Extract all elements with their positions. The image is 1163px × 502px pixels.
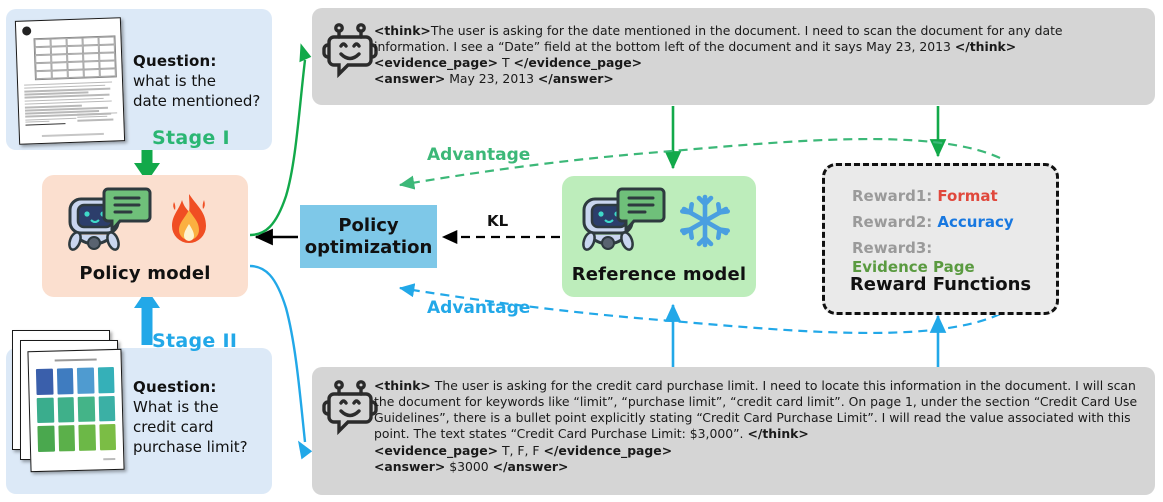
stage2-label: Stage II <box>152 330 237 352</box>
reward-functions-box[interactable]: Reward1: Format Reward2: Accuracy Reward… <box>822 163 1059 315</box>
answer-close-tag: </answer> <box>538 71 614 86</box>
advantage-top-label: Advantage <box>427 145 530 165</box>
reference-model-caption: Reference model <box>562 264 756 285</box>
fire-icon <box>166 190 212 252</box>
stage2-question-text: What is the credit card purchase limit? <box>133 398 273 457</box>
evidence-close-tag: </evidence_page> <box>544 443 673 458</box>
chat-robot-icon <box>324 22 378 78</box>
reward-item-2: Reward2: Accuracy <box>852 212 1014 231</box>
doc-signature-block <box>77 110 117 123</box>
think-close-tag: </think> <box>747 426 808 441</box>
stage2-question-label: Question: <box>133 378 217 396</box>
response-top-bubble: <think>The user is asking for the date m… <box>312 8 1155 105</box>
evidence-open-tag: <evidence_page> <box>374 443 498 458</box>
answer-value: May 23, 2013 <box>445 71 538 86</box>
evidence-value: T <box>498 55 513 70</box>
reward-1-value: Format <box>937 187 997 205</box>
doc-page-number <box>103 458 115 460</box>
reward-1-key: Reward1: <box>852 187 932 205</box>
policy-model-caption: Policy model <box>42 263 248 284</box>
reward-functions-title: Reward Functions <box>825 274 1056 295</box>
policy-model-box[interactable]: Policy model <box>42 175 248 297</box>
reward-item-3: Reward3: Evidence Page <box>852 238 1056 276</box>
answer-value: $3000 <box>445 459 492 474</box>
think-close-tag: </think> <box>955 39 1016 54</box>
reward-2-value: Accuracy <box>937 213 1013 231</box>
response-bottom-bubble: <think> The user is asking for the credi… <box>312 367 1155 495</box>
robot-icon <box>64 185 156 257</box>
chat-robot-icon <box>324 379 378 435</box>
kl-label: KL <box>487 212 508 230</box>
think-open-tag: <think> <box>374 23 431 38</box>
advantage-bottom-label: Advantage <box>427 298 530 318</box>
evidence-value: T, F, F <box>498 443 543 458</box>
doc-title-line <box>55 358 97 361</box>
answer-open-tag: <answer> <box>374 71 445 86</box>
doc-date-field <box>25 118 65 127</box>
stage1-document-thumbnail <box>15 17 125 145</box>
stage1-label: Stage I <box>152 127 230 149</box>
think-open-tag: <think> <box>374 378 431 393</box>
response-top-text: <think>The user is asking for the date m… <box>374 23 1140 88</box>
stage1-question-label: Question: <box>133 52 217 70</box>
answer-close-tag: </answer> <box>493 459 569 474</box>
policy-optimization-box[interactable]: Policy optimization <box>300 205 437 268</box>
robot-icon <box>578 185 670 257</box>
doc-flow-grid <box>36 367 116 452</box>
reference-model-icons <box>578 184 742 258</box>
reward-2-key: Reward2: <box>852 213 932 231</box>
policy-model-icons <box>64 185 230 257</box>
doc-table <box>33 35 116 80</box>
policy-optimization-label: Policy optimization <box>305 215 433 257</box>
evidence-open-tag: <evidence_page> <box>374 55 498 70</box>
stage1-question-text: what is the date mentioned? <box>133 72 269 112</box>
reference-model-box[interactable]: Reference model <box>562 176 756 297</box>
reward-item-1: Reward1: Format <box>852 186 998 205</box>
stage2-document-thumbnail <box>27 349 124 472</box>
snowflake-icon <box>676 192 734 250</box>
doc-footer-line <box>42 133 104 137</box>
evidence-close-tag: </evidence_page> <box>514 55 643 70</box>
doc-logo-icon <box>22 26 31 35</box>
response-bottom-text: <think> The user is asking for the credi… <box>374 378 1150 475</box>
answer-open-tag: <answer> <box>374 459 445 474</box>
reward-3-key: Reward3: <box>852 239 932 257</box>
